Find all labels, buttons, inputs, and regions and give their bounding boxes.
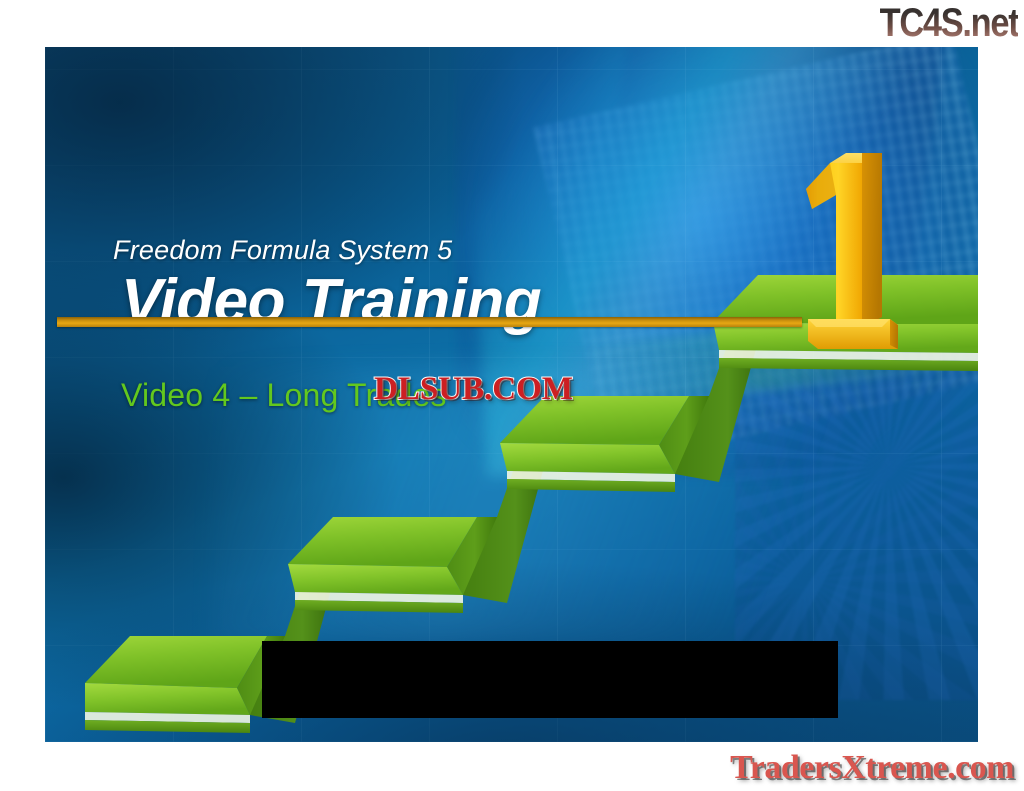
watermark-bottom-right: TradersXtreme.com	[730, 749, 1014, 787]
redaction-bar	[262, 641, 838, 718]
slide-eyebrow-text: Freedom Formula System 5	[113, 235, 452, 266]
presentation-slide: Freedom Formula System 5 Video Training …	[45, 47, 978, 742]
gold-divider-bar	[57, 317, 802, 327]
page-canvas: Freedom Formula System 5 Video Training …	[0, 0, 1024, 791]
watermark-center: DLSUB.COM	[374, 371, 573, 408]
watermark-top-right: TC4S.net	[879, 1, 1018, 46]
number-one-3d-icon	[790, 149, 910, 364]
